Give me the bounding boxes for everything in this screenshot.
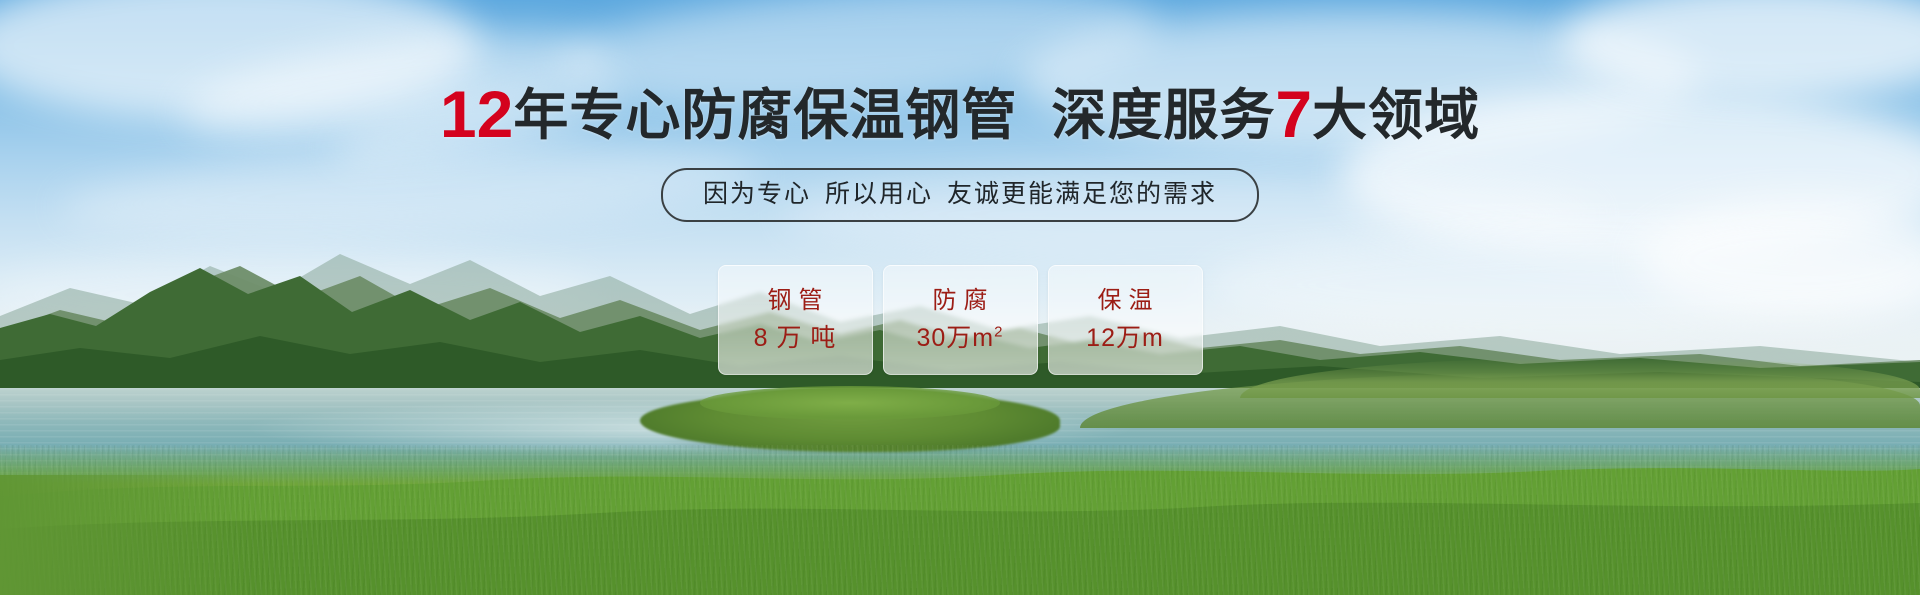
stat-card-anticorrosion[interactable]: 防腐 30万m2: [883, 265, 1038, 375]
stat-cards: 钢管 8 万 吨 防腐 30万m2 保温 12万m: [0, 265, 1920, 375]
headline: 12年专心防腐保温钢管深度服务7大领域: [0, 82, 1920, 147]
headline-fields-number: 7: [1275, 77, 1312, 151]
subtitle-part-1: 因为专心: [703, 180, 811, 208]
stat-card-value-base: 12万m: [1086, 324, 1164, 352]
headline-service-text: 深度服务: [1051, 84, 1275, 146]
subtitle-pill: 因为专心所以用心友诚更能满足您的需求: [661, 168, 1259, 222]
hero-banner: 12年专心防腐保温钢管深度服务7大领域 因为专心所以用心友诚更能满足您的需求 钢…: [0, 0, 1920, 595]
subtitle-part-2: 所以用心: [825, 180, 933, 208]
banner-content: 12年专心防腐保温钢管深度服务7大领域 因为专心所以用心友诚更能满足您的需求 钢…: [0, 0, 1920, 595]
stat-card-value: 8 万 吨: [754, 323, 837, 353]
headline-years-number: 12: [440, 77, 513, 151]
subtitle-container: 因为专心所以用心友诚更能满足您的需求: [0, 168, 1920, 222]
subtitle-part-3: 友诚更能满足您的需求: [947, 180, 1217, 208]
stat-card-label: 保温: [1091, 287, 1160, 315]
stat-card-value-base: 8 万 吨: [754, 324, 837, 352]
headline-fields-text: 大领域: [1312, 84, 1480, 146]
stat-card-value: 12万m: [1086, 323, 1164, 353]
stat-card-steel-pipe[interactable]: 钢管 8 万 吨: [718, 265, 873, 375]
stat-card-insulation[interactable]: 保温 12万m: [1048, 265, 1203, 375]
stat-card-value-base: 30万m: [917, 324, 995, 352]
stat-card-label: 防腐: [926, 287, 995, 315]
headline-main-text: 专心防腐保温钢管: [569, 84, 1017, 146]
stat-card-value-exponent: 2: [994, 324, 1003, 341]
stat-card-label: 钢管: [761, 287, 830, 315]
headline-years-unit: 年: [513, 84, 569, 146]
stat-card-value: 30万m2: [917, 323, 1004, 353]
